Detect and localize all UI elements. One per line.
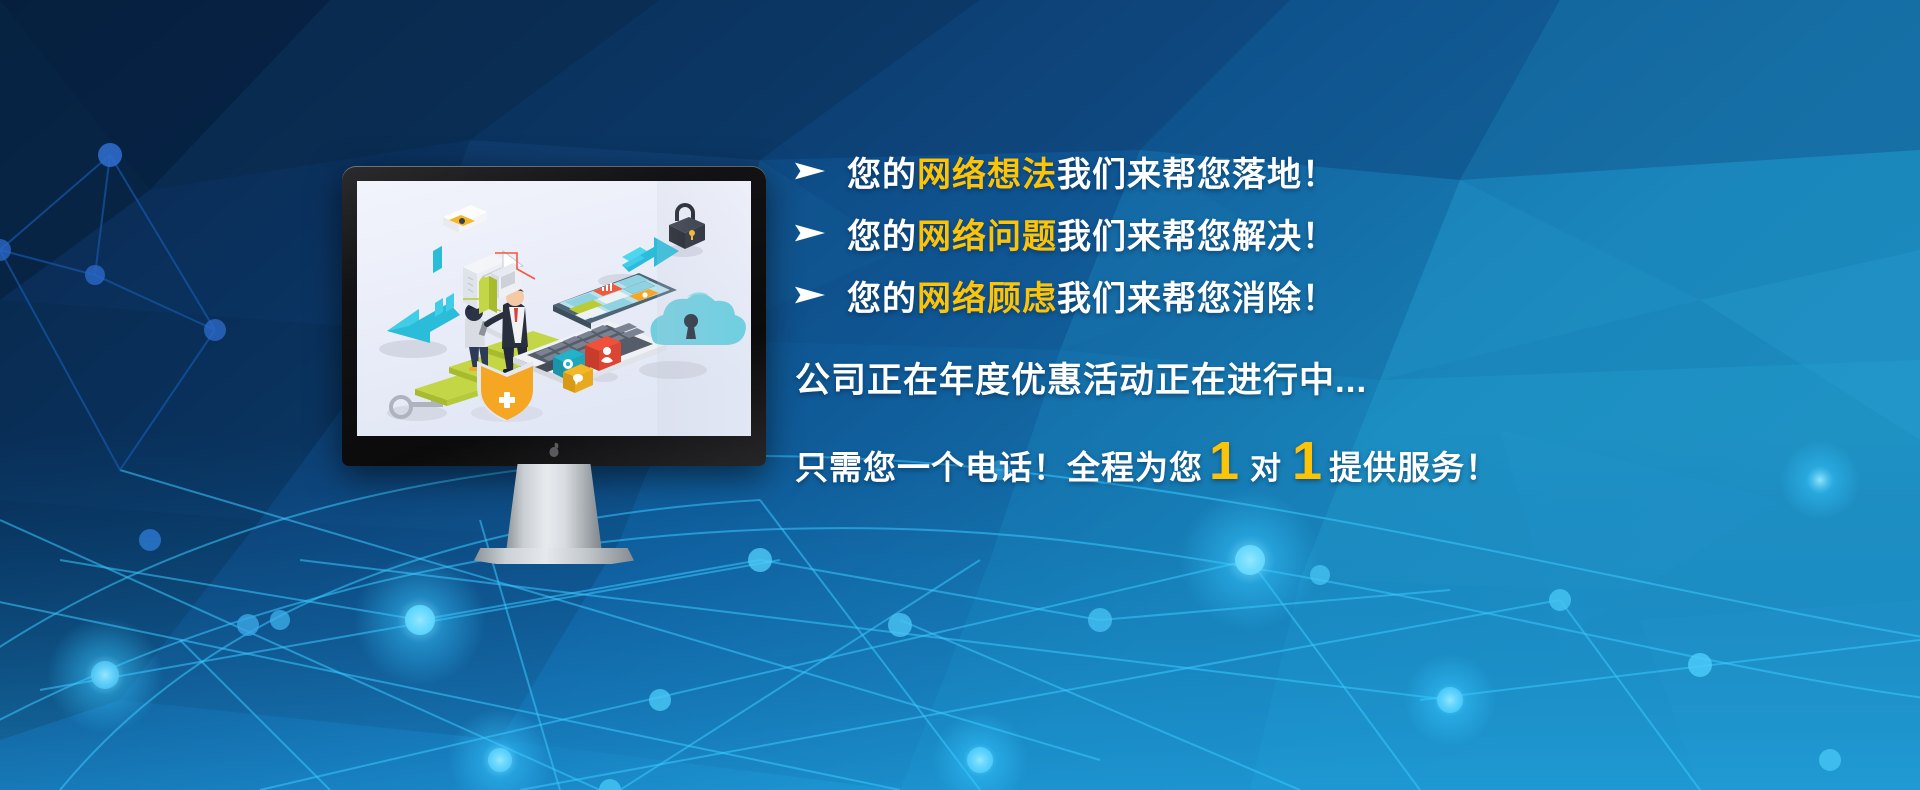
monitor-screen [357, 181, 751, 436]
cta-prefix: 只需您一个电话！全程为您 [795, 441, 1203, 489]
bullet-text-2: 您的网络问题我们来帮您解决！ [847, 209, 1337, 258]
bullet-lead-3: 您的 [847, 280, 917, 318]
imac-monitor [342, 166, 766, 466]
bullet-highlight-1: 网络想法 [917, 156, 1057, 194]
bullet-tail-2: 我们来帮您解决！ [1057, 218, 1337, 256]
bullet-highlight-3: 网络顾虑 [917, 280, 1057, 318]
bullet-text-3: 您的网络顾虑我们来帮您消除！ [847, 271, 1337, 320]
green-bar-icon [479, 276, 497, 314]
copy-block: 您的网络想法我们来帮您落地！ 您的网络问题我们来帮您解决！ 您的网络顾虑我们来帮… [795, 140, 1555, 489]
arrow-triangle-icon [795, 285, 825, 305]
arrow-triangle-icon [795, 161, 825, 181]
cta-middle: 对 [1246, 443, 1286, 488]
arrow-triangle-icon [795, 223, 825, 243]
bullet-lead-2: 您的 [847, 218, 917, 256]
bullet-highlight-2: 网络问题 [917, 218, 1057, 256]
cta-number-two: 1 [1286, 437, 1329, 486]
bullet-tail-3: 我们来帮您消除！ [1057, 280, 1337, 318]
bullet-row-1: 您的网络想法我们来帮您落地！ [795, 140, 1555, 202]
monitor-base [474, 548, 634, 564]
apple-icon [548, 443, 561, 458]
monitor-bezel [342, 166, 766, 466]
bullet-tail-1: 我们来帮您落地！ [1057, 156, 1337, 194]
cta-number-one: 1 [1203, 437, 1246, 486]
bullet-text-1: 您的网络想法我们来帮您落地！ [847, 147, 1337, 196]
bullet-row-2: 您的网络问题我们来帮您解决！ [795, 202, 1555, 264]
monitor-neck [506, 464, 602, 552]
cta-suffix: 提供服务！ [1329, 441, 1499, 489]
bullet-row-3: 您的网络顾虑我们来帮您消除！ [795, 264, 1555, 326]
isometric-illustration [357, 181, 751, 436]
bullet-lead-1: 您的 [847, 156, 917, 194]
promo-text: 公司正在年度优惠活动正在进行中... [795, 352, 1555, 403]
cta-text: 只需您一个电话！全程为您 1 对 1 提供服务！ [795, 437, 1555, 489]
promo-banner: 您的网络想法我们来帮您落地！ 您的网络问题我们来帮您解决！ 您的网络顾虑我们来帮… [0, 0, 1920, 790]
